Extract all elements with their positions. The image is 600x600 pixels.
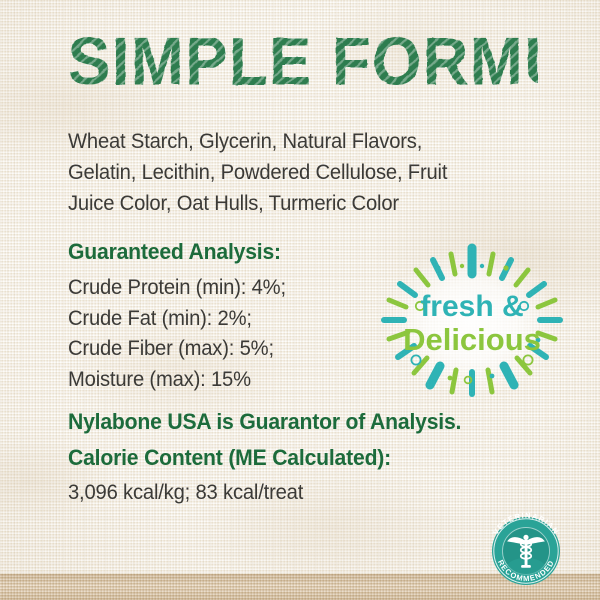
page-title-text: SIMPLE FORMULA [68,24,538,98]
guaranteed-analysis-heading: Guaranteed Analysis: [68,238,281,266]
badge-line-2: Delicious [403,322,541,357]
list-item: Crude Fat (min): 2%; [68,303,378,334]
calorie-content-value: 3,096 kcal/kg; 83 kcal/treat [68,478,303,506]
veterinarian-recommended-seal: VETERINARIAN RECOMMENDED [481,511,571,587]
list-item: Crude Fiber (max): 5%; [68,333,378,364]
badge-line-1: fresh & [420,290,523,323]
list-item: Crude Protein (min): 4%; [68,272,378,303]
guaranteed-analysis-list: Crude Protein (min): 4%; Crude Fat (min)… [68,272,378,394]
page-title: SIMPLE FORMULA [68,24,538,98]
fresh-delicious-badge: fresh & Delicious [372,240,572,400]
ingredients-text: Wheat Starch, Glycerin, Natural Flavors,… [68,126,487,219]
list-item: Moisture (max): 15% [68,364,378,395]
product-info-panel: SIMPLE FORMULA Wheat Starch, Glycerin, N… [0,0,600,600]
calorie-content-heading: Calorie Content (ME Calculated): [68,444,391,472]
